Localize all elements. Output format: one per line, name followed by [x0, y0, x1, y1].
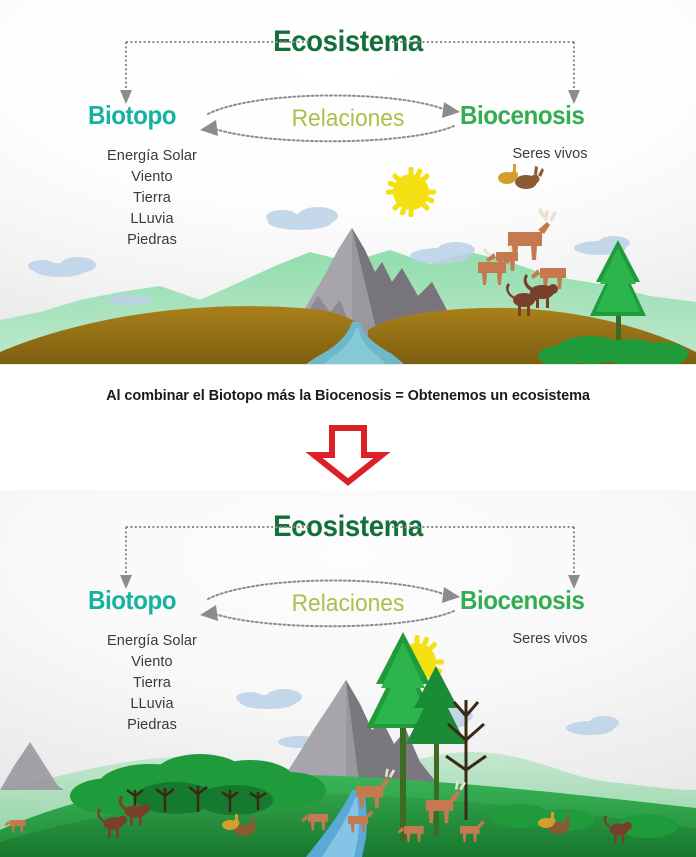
- page-title-top: Ecosistema: [28, 25, 668, 59]
- relations-label-bottom: Relaciones: [17, 590, 678, 618]
- sun-icon: [386, 167, 436, 217]
- page-title-bottom: Ecosistema: [28, 510, 668, 544]
- pine-tree-tall-2: [406, 666, 466, 836]
- forest-left: [70, 754, 326, 814]
- biotopo-term-list-top: Energía Solar Viento Tierra LLuvia Piedr…: [52, 146, 252, 251]
- biotopo-term: Tierra: [52, 673, 252, 694]
- infographic-page: Ecosistema Biotopo Biocenosis Relacione: [0, 0, 696, 857]
- down-arrow-red-icon: [298, 424, 398, 486]
- biocenosis-sub-label-top: Seres vivos: [450, 146, 650, 162]
- distant-hills: [0, 250, 696, 364]
- bushes-bottom: [490, 804, 678, 838]
- panel-bottom-ecosystem-combined: Ecosistema Biotopo Biocenosis Relaciones: [0, 490, 696, 857]
- biotopo-term: Viento: [52, 652, 252, 673]
- monkey-group: [506, 274, 558, 316]
- monkey-group-bottom: [97, 795, 632, 843]
- biotopo-term: LLuvia: [52, 694, 252, 715]
- biotopo-term: Tierra: [52, 188, 252, 209]
- biotopo-term: Piedras: [52, 230, 252, 251]
- forest-trunks: [127, 786, 266, 812]
- biotopo-term: LLuvia: [52, 209, 252, 230]
- biotopo-term: Piedras: [52, 715, 252, 736]
- biotopo-term: Energía Solar: [52, 631, 252, 652]
- pine-tree-tall: [366, 632, 440, 840]
- biotopo-term: Energía Solar: [52, 146, 252, 167]
- biotopo-term: Viento: [52, 167, 252, 188]
- river-bottom: [306, 790, 367, 857]
- relations-label-top: Relaciones: [17, 105, 678, 133]
- biocenosis-sub-label-bottom: Seres vivos: [450, 631, 650, 647]
- biotopo-term-list-bottom: Energía Solar Viento Tierra LLuvia Piedr…: [52, 631, 252, 736]
- panel-top-ecosystem-split: Ecosistema Biotopo Biocenosis Relacione: [0, 0, 696, 364]
- bushes: [538, 336, 688, 364]
- ground-right: [368, 308, 696, 364]
- deer-group: [478, 208, 566, 289]
- forest-left-dark: [135, 782, 273, 815]
- main-hill: [0, 775, 696, 857]
- pine-tree: [590, 240, 646, 350]
- mountain-shape: [255, 228, 470, 345]
- clouds-group-bottom: [236, 689, 619, 748]
- equation-text: Al combinar el Biotopo más la Biocenosis…: [0, 388, 696, 404]
- river: [306, 322, 404, 364]
- far-hills-bottom: [0, 752, 696, 857]
- ground-left: [0, 306, 360, 364]
- rabbit-group-bottom: [222, 812, 570, 836]
- rabbit-group: [498, 164, 544, 189]
- sun-icon-bottom: [390, 635, 444, 689]
- bare-tree: [446, 700, 486, 820]
- deer-group-bottom: [5, 768, 485, 842]
